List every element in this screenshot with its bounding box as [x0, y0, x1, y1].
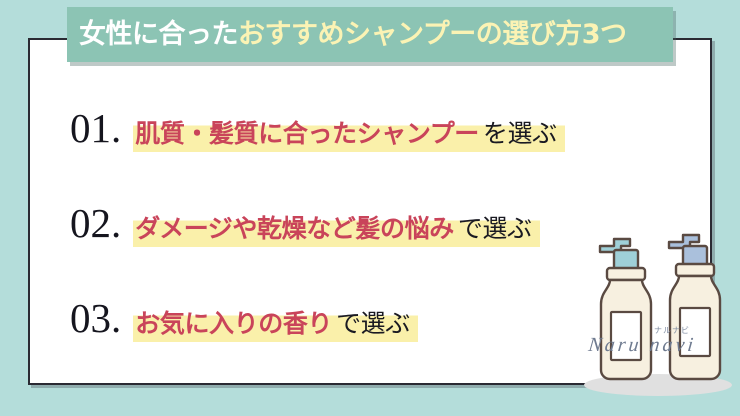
list-item-text: お気に入りの香りで選ぶ — [133, 310, 418, 339]
list-item-highlight: お気に入りの香り — [133, 308, 334, 342]
right-pump-nozzle — [669, 235, 699, 248]
list-item-highlight: ダメージや乾燥など髪の悩み — [133, 213, 456, 247]
list-item-number: 02. — [70, 203, 121, 244]
list-item-number: 03. — [70, 298, 121, 339]
list-item-number: 01. — [70, 108, 121, 149]
slide-canvas: 01. 肌質・髪質に合ったシャンプーを選ぶ 02. ダメージや乾燥など髪の悩みで… — [0, 0, 740, 416]
list-item-text: ダメージや乾燥など髪の悩みで選ぶ — [133, 215, 539, 244]
list-item-tail: で選ぶ — [456, 213, 540, 247]
page-title: 女性に合ったおすすめシャンプーの選び方3つ — [79, 21, 626, 48]
list-item-tail: を選ぶ — [481, 118, 565, 152]
list-item: 01. 肌質・髪質に合ったシャンプーを選ぶ — [70, 108, 670, 203]
right-pump-stem — [683, 246, 707, 266]
page-title-plain: 女性に合った — [79, 19, 238, 50]
list-item-tail: で選ぶ — [334, 308, 418, 342]
page-title-accent: おすすめシャンプーの選び方3つ — [238, 19, 626, 50]
header-band: 女性に合ったおすすめシャンプーの選び方3つ — [67, 7, 673, 62]
right-bottle-collar — [676, 264, 714, 276]
content-panel: 01. 肌質・髪質に合ったシャンプーを選ぶ 02. ダメージや乾燥など髪の悩みで… — [28, 38, 712, 385]
signature-watermark: ナルナビ Naru navi — [576, 325, 696, 369]
list-item-text: 肌質・髪質に合ったシャンプーを選ぶ — [133, 120, 564, 149]
list-item: 02. ダメージや乾燥など髪の悩みで選ぶ — [70, 203, 670, 298]
signature-name: Naru navi — [575, 334, 697, 357]
list-item-highlight: 肌質・髪質に合ったシャンプー — [133, 118, 481, 152]
